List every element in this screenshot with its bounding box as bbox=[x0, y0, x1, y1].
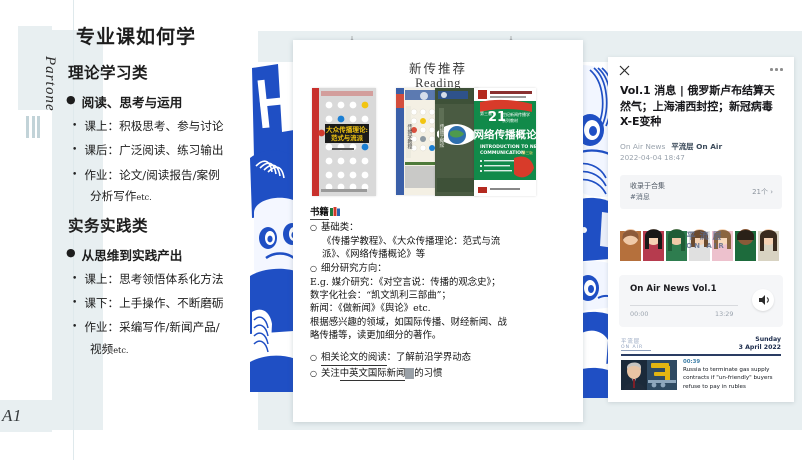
svg-text:世纪新闻传播学: 世纪新闻传播学 bbox=[502, 111, 530, 117]
list-item-label: 课上：思考领悟体系化方法 bbox=[84, 272, 260, 287]
audio-title: On Air News Vol.1 bbox=[630, 284, 717, 294]
list-item-label: 作业：采编写作/新闻产品/ bbox=[84, 320, 260, 335]
notes-line: ○基础类： bbox=[310, 221, 568, 234]
svg-text:大众传播理论:: 大众传播理论: bbox=[326, 125, 368, 134]
list-item-label: 作业：论文/阅读报告/案例 bbox=[84, 168, 260, 183]
news-date: Sunday 3 April 2022 bbox=[739, 336, 781, 352]
news-logo-line1: 平流层 bbox=[621, 337, 651, 345]
notes-line: ○相关论文的阅读：了解前沿学界动态 bbox=[310, 351, 568, 365]
ring-bullet-icon: ○ bbox=[310, 262, 317, 275]
decorative-bars bbox=[26, 116, 40, 138]
notes-highlight: □ bbox=[405, 368, 414, 379]
book-cover-row: 大众传播理论: 范式与流派 bbox=[308, 88, 570, 198]
reading-card-title-zh: 新传推荐 bbox=[300, 58, 576, 77]
banner-line1: 平流层 bbox=[670, 229, 742, 242]
svg-text:INTRODUCTION TO NETWORK: INTRODUCTION TO NETWORK bbox=[480, 144, 536, 150]
bullet-dot-icon: • bbox=[72, 168, 77, 183]
lead-bullet-theory-label: 阅读、思考与运用 bbox=[82, 92, 183, 111]
notes-underlined: 相关论文的阅读 bbox=[321, 351, 387, 365]
eg-text: 媒介研究：《对空言说：传播的观念史》； bbox=[332, 277, 501, 288]
wechat-toolbar bbox=[608, 57, 794, 81]
continuation-suffix: etc. bbox=[136, 192, 151, 202]
bullet-dot-icon: • bbox=[72, 272, 77, 287]
lead-bullet-theory: ● 阅读、思考与运用 bbox=[66, 92, 260, 111]
collection-label: 收录于合集 bbox=[630, 181, 665, 191]
lead-bullet-practice-label: 从思维到实践产出 bbox=[82, 245, 183, 264]
article-author[interactable]: 平流层 On Air bbox=[671, 141, 722, 152]
reading-card-title: 新传推荐 Reading bbox=[300, 58, 576, 91]
article-collection-card[interactable]: 收录于合集 #消息 21个 › bbox=[620, 175, 782, 209]
audio-player[interactable]: On Air News Vol.1 00:00 13:29 bbox=[619, 275, 783, 327]
book-cover-network-communication: 21 世纪新闻传播学 系列教材 第三版 网络传播概论 INTRODUCTION … bbox=[474, 88, 536, 196]
part-label-line1: Part bbox=[41, 56, 58, 87]
svg-text:传播学教程: 传播学教程 bbox=[407, 123, 413, 150]
wechat-article-panel: Vol.1 消息 | 俄罗斯卢布结算天然气；上海浦西封控；新冠病毒X-E变种 O… bbox=[608, 57, 794, 402]
close-icon[interactable] bbox=[619, 63, 630, 74]
book-cover-communication-green: 传播学概论 bbox=[435, 88, 479, 196]
news-logo-line2: ON AIR bbox=[621, 345, 651, 351]
news-full-date: 3 April 2022 bbox=[739, 344, 781, 352]
speaker-icon[interactable] bbox=[752, 289, 774, 311]
audio-progress-bar[interactable] bbox=[630, 305, 738, 306]
eg-prefix: E.g. bbox=[310, 277, 329, 288]
news-digest-card: 平流层 ON AIR Sunday 3 April 2022 bbox=[619, 335, 783, 393]
notes-text: ：了解前沿学界动态 bbox=[387, 352, 471, 363]
notes-line: 根据感兴趣的领域，如国际传播、财经新闻、战 bbox=[310, 316, 568, 329]
list-item: • 课上：思考领悟体系化方法 bbox=[72, 272, 260, 287]
notes-heading: 书籍 bbox=[310, 206, 329, 220]
notes-line: ○关注中英文国际新闻□的习惯 bbox=[310, 367, 568, 381]
article-meta: On Air News 平流层 On Air bbox=[620, 141, 785, 152]
bullet-dot-icon: ● bbox=[66, 92, 76, 111]
left-content-column: 专业课如何学 理论学习类 ● 阅读、思考与运用 • 课上：积极思考、参与讨论 •… bbox=[60, 22, 260, 367]
notes-text: 的习惯 bbox=[414, 368, 442, 379]
news-logo: 平流层 ON AIR bbox=[621, 337, 651, 351]
audio-current-time: 00:00 bbox=[630, 310, 648, 318]
ring-bullet-icon: ○ bbox=[310, 367, 317, 381]
svg-text:传播学概论: 传播学概论 bbox=[439, 123, 444, 148]
list-item: • 课上：积极思考、参与讨论 bbox=[72, 119, 260, 134]
slide-bottom-margin bbox=[0, 430, 802, 460]
news-weekday: Sunday bbox=[739, 336, 781, 344]
collection-tag: #消息 bbox=[630, 192, 650, 202]
bullet-dot-icon: • bbox=[72, 320, 77, 335]
svg-text:第三版: 第三版 bbox=[480, 110, 492, 116]
bullet-dot-icon: • bbox=[72, 119, 77, 134]
presentation-slide: Part one A1 专业课如何学 理论学习类 ● 阅读、思考与运用 • 课上… bbox=[0, 0, 802, 460]
notes-line: 派》、《网络传播概论》等 bbox=[322, 248, 568, 261]
svg-text:范式与流派: 范式与流派 bbox=[331, 133, 364, 142]
section-heading-theory: 理论学习类 bbox=[68, 61, 260, 83]
list-item-continuation: 分析写作etc. bbox=[90, 188, 260, 204]
news-divider bbox=[621, 354, 781, 356]
news-item-headline: Russia to terminate gas supply contracts… bbox=[683, 366, 779, 391]
notes-line: 略传播等，读更加细分的著作。 bbox=[310, 329, 568, 342]
article-title: Vol.1 消息 | 俄罗斯卢布结算天然气；上海浦西封控；新冠病毒X-E变种 bbox=[620, 83, 782, 130]
bullet-dot-icon: ● bbox=[66, 245, 76, 264]
notes-line: ○细分研究方向： bbox=[310, 262, 568, 275]
svg-text:COMMUNICATION: COMMUNICATION bbox=[480, 150, 525, 156]
article-account: On Air News bbox=[620, 142, 665, 151]
reading-card-notes: 书籍 ○基础类： 《传播学教程》、《大众传播理论：范式与流 派》、《网络传播概论… bbox=[310, 206, 568, 381]
section-heading-practice: 实务实践类 bbox=[68, 214, 260, 236]
list-item: • 课后：广泛阅读、练习输出 bbox=[72, 143, 260, 158]
svg-text:网络传播概论: 网络传播概论 bbox=[474, 128, 536, 141]
notes-line: E.g. 媒介研究：《对空言说：传播的观念史》； bbox=[310, 276, 568, 289]
bullet-dot-icon: • bbox=[72, 296, 77, 311]
banner-text: 平流层 ON AIR bbox=[670, 229, 742, 255]
svg-text:系列教材: 系列教材 bbox=[502, 117, 518, 123]
article-date: 2022-04-04 18:47 bbox=[620, 153, 685, 162]
notes-line: 数字化社会：“凯文凯利三部曲”； bbox=[310, 289, 568, 302]
more-dots-icon[interactable] bbox=[770, 68, 783, 71]
continuation-suffix: etc. bbox=[113, 345, 128, 355]
list-item-continuation: 视频etc. bbox=[90, 341, 260, 357]
list-item: • 作业：论文/阅读报告/案例 bbox=[72, 168, 260, 183]
banner-line2: ON AIR bbox=[670, 242, 742, 250]
reading-card-inner: 新传推荐 Reading bbox=[300, 58, 576, 414]
part-label-line2: one bbox=[41, 87, 58, 112]
lead-bullet-practice: ● 从思维到实践产出 bbox=[66, 245, 260, 264]
notes-underlined: 中英文国际新闻 bbox=[340, 367, 406, 381]
ring-bullet-icon: ○ bbox=[310, 221, 317, 234]
books-emoji-icon bbox=[330, 207, 341, 216]
audio-duration: 13:29 bbox=[715, 310, 733, 318]
notes-text: 关注 bbox=[321, 368, 340, 379]
list-item-label: 课上：积极思考、参与讨论 bbox=[84, 119, 260, 134]
list-item-label: 课后：广泛阅读、练习输出 bbox=[84, 143, 260, 158]
continuation-text: 视频 bbox=[90, 342, 113, 356]
news-thumbnail bbox=[621, 360, 677, 390]
ring-bullet-icon: ○ bbox=[310, 351, 317, 365]
list-item: • 课下：上手操作、不断磨砺 bbox=[72, 296, 260, 311]
svg-text:第三版: 第三版 bbox=[522, 150, 533, 155]
bullet-dot-icon: • bbox=[72, 143, 77, 158]
book-cover-mass-communication-theory: 大众传播理论: 范式与流派 bbox=[312, 88, 376, 196]
corner-code: A1 bbox=[2, 406, 22, 426]
continuation-text: 分析写作 bbox=[90, 189, 136, 203]
list-item: • 作业：采编写作/新闻产品/ bbox=[72, 320, 260, 335]
collection-count: 21个 › bbox=[752, 187, 773, 197]
reading-recommendation-card: 新传推荐 Reading bbox=[293, 40, 583, 422]
notes-line: 新闻：《做新闻》《舆论》etc. bbox=[310, 302, 568, 315]
list-item-label: 课下：上手操作、不断磨砺 bbox=[84, 296, 260, 311]
news-item-time: 00:39 bbox=[683, 359, 700, 365]
page-title: 专业课如何学 bbox=[76, 22, 260, 49]
notes-label: 基础类： bbox=[321, 221, 359, 234]
notes-line: 《传播学教程》、《大众传播理论：范式与流 bbox=[322, 235, 568, 248]
notes-label: 细分研究方向： bbox=[321, 262, 387, 275]
